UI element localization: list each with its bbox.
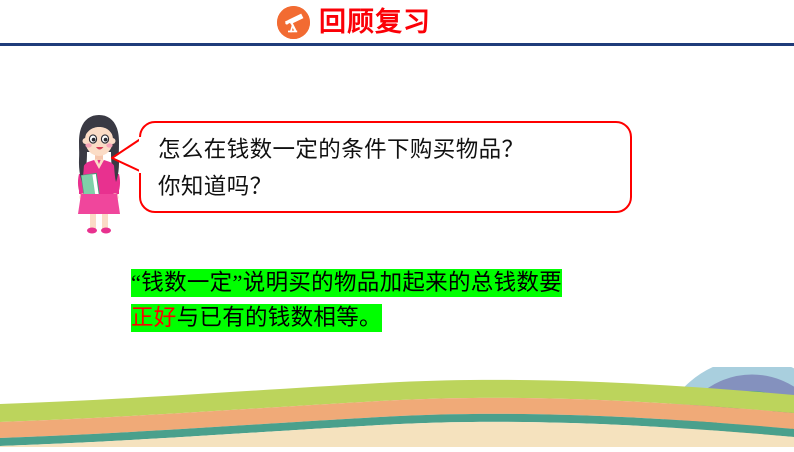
header-divider: [0, 43, 794, 46]
conclusion-emphasis: 正好: [131, 305, 177, 330]
telescope-icon: [277, 6, 310, 39]
header-title-group: 回顾复习: [277, 6, 431, 39]
conclusion-text-block: “钱数一定”说明买的物品加起来的总钱数要 正好与已有的钱数相等。: [131, 267, 691, 337]
header-bar: 回顾复习: [0, 0, 794, 46]
bottom-decoration: [0, 367, 794, 447]
cartoon-girl-illustration: [66, 112, 132, 234]
conclusion-line-1-text: “钱数一定”说明买的物品加起来的总钱数要: [131, 269, 562, 297]
conclusion-line-2: 正好与已有的钱数相等。: [131, 302, 691, 333]
speech-bubble-text: 怎么在钱数一定的条件下购买物品？ 你知道吗？: [158, 131, 618, 205]
speech-bubble: 怎么在钱数一定的条件下购买物品？ 你知道吗？: [139, 121, 632, 213]
page-title: 回顾复习: [319, 7, 431, 39]
conclusion-line-1: “钱数一定”说明买的物品加起来的总钱数要: [131, 267, 691, 298]
conclusion-line-2-text: 与已有的钱数相等。: [177, 305, 382, 330]
